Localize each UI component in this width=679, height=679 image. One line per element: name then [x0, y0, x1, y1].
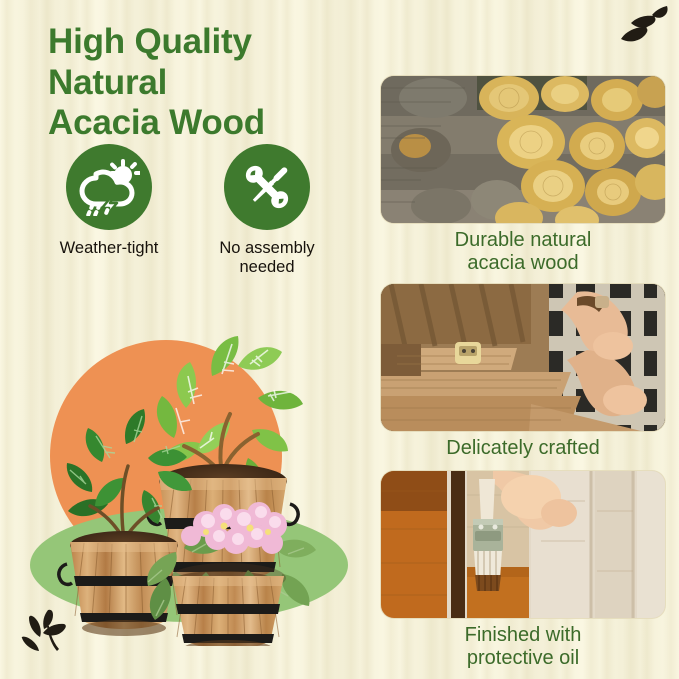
barrel-planters-illustration	[16, 326, 374, 646]
feature-badge-no-assembly: No assemblyneeded	[202, 144, 332, 278]
brush-applying-oil-photo	[381, 471, 665, 618]
leaf-sprig-top-right-icon	[609, 2, 671, 61]
hero-product-image	[16, 326, 374, 646]
feature-badge-list: Weather-tight	[44, 144, 354, 278]
page-title-line-2: Acacia Wood	[48, 103, 378, 144]
wrench-screwdriver-icon	[224, 144, 310, 230]
page-title-line-1: High Quality Natural	[48, 22, 252, 102]
stacked-cut-logs-photo	[381, 76, 665, 223]
photo-caption: Delicately crafted	[381, 437, 665, 460]
photo-caption: Finished withprotective oil	[381, 624, 665, 670]
photo-card-logs: Durable naturalacacia wood	[381, 76, 665, 275]
photo-caption: Durable naturalacacia wood	[381, 229, 665, 275]
storm-cloud-icon	[66, 144, 152, 230]
feature-badge-weather-tight: Weather-tight	[44, 144, 174, 278]
feature-photo-list: Durable naturalacacia wood	[381, 76, 665, 676]
photo-card-carpenter: Delicately crafted	[381, 284, 665, 460]
feature-badge-label: Weather-tight	[60, 239, 159, 258]
carpenter-measuring-wood-photo	[381, 284, 665, 431]
photo-card-oil: Finished withprotective oil	[381, 471, 665, 670]
feature-badge-label: No assemblyneeded	[219, 239, 314, 278]
page-title: High Quality Natural Acacia Wood	[48, 22, 378, 144]
product-infographic: High Quality Natural Acacia Wood	[0, 0, 679, 679]
